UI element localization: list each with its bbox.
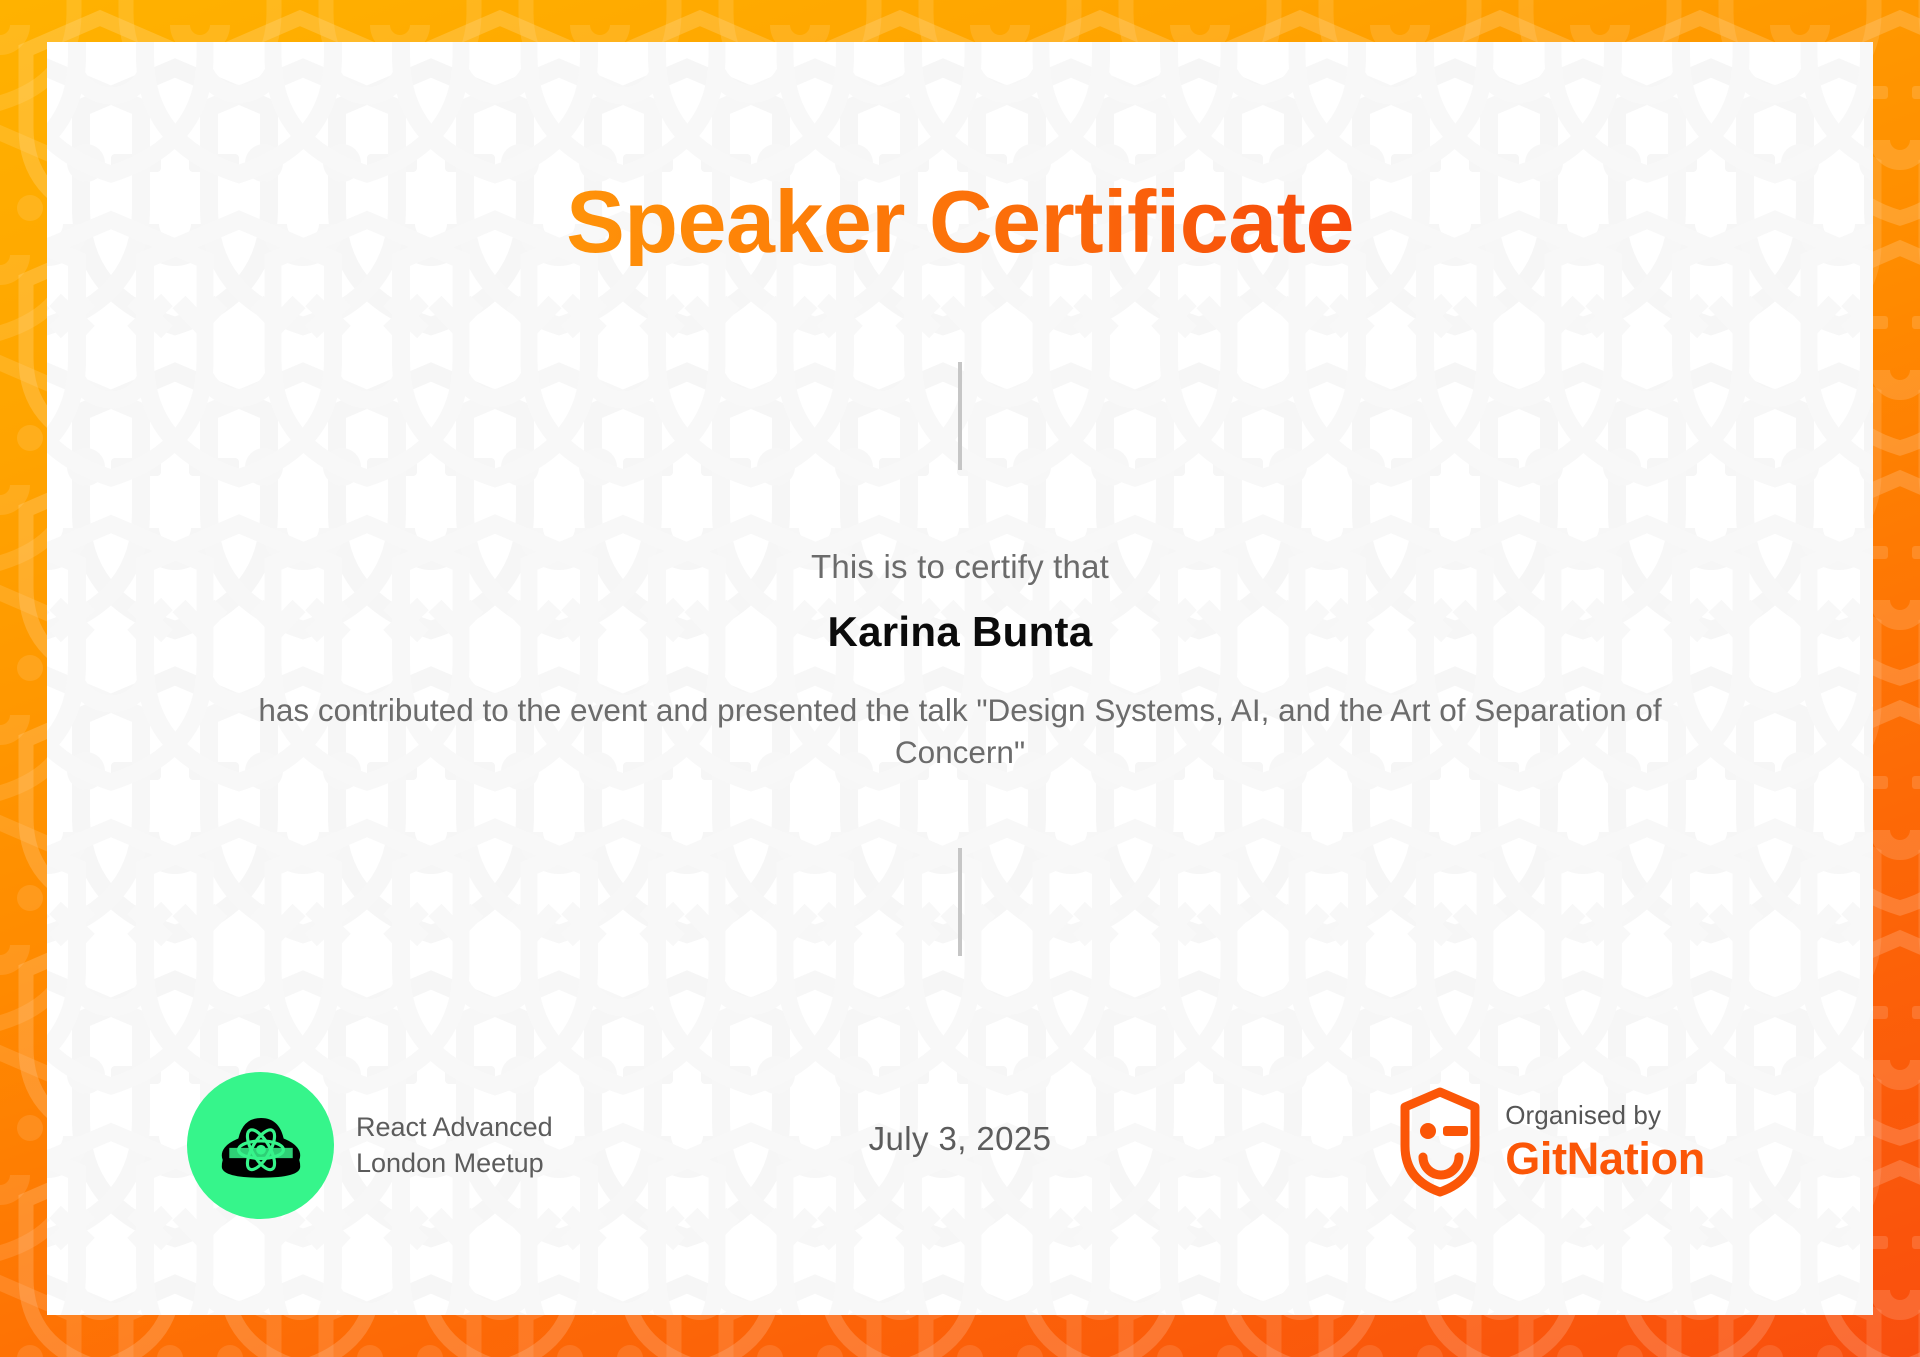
organiser-name: GitNation	[1505, 1133, 1705, 1185]
certificate-card: Speaker Certificate This is to certify t…	[47, 42, 1873, 1315]
talk-description: has contributed to the event and present…	[225, 690, 1695, 774]
organiser-branding: Organised by GitNation	[1397, 1086, 1705, 1198]
certificate-footer: React Advanced London Meetup July 3, 202…	[47, 1072, 1873, 1212]
gitnation-shield-face-icon	[1397, 1086, 1483, 1198]
page-title: Speaker Certificate	[566, 178, 1354, 266]
divider-top	[958, 362, 962, 470]
certify-line: This is to certify that	[811, 548, 1109, 586]
recipient-name: Karina Bunta	[828, 608, 1093, 656]
organiser-text-block: Organised by GitNation	[1505, 1099, 1705, 1185]
organiser-label: Organised by	[1505, 1099, 1705, 1132]
divider-bottom	[958, 848, 962, 956]
speaker-certificate: Speaker Certificate This is to certify t…	[0, 0, 1920, 1357]
